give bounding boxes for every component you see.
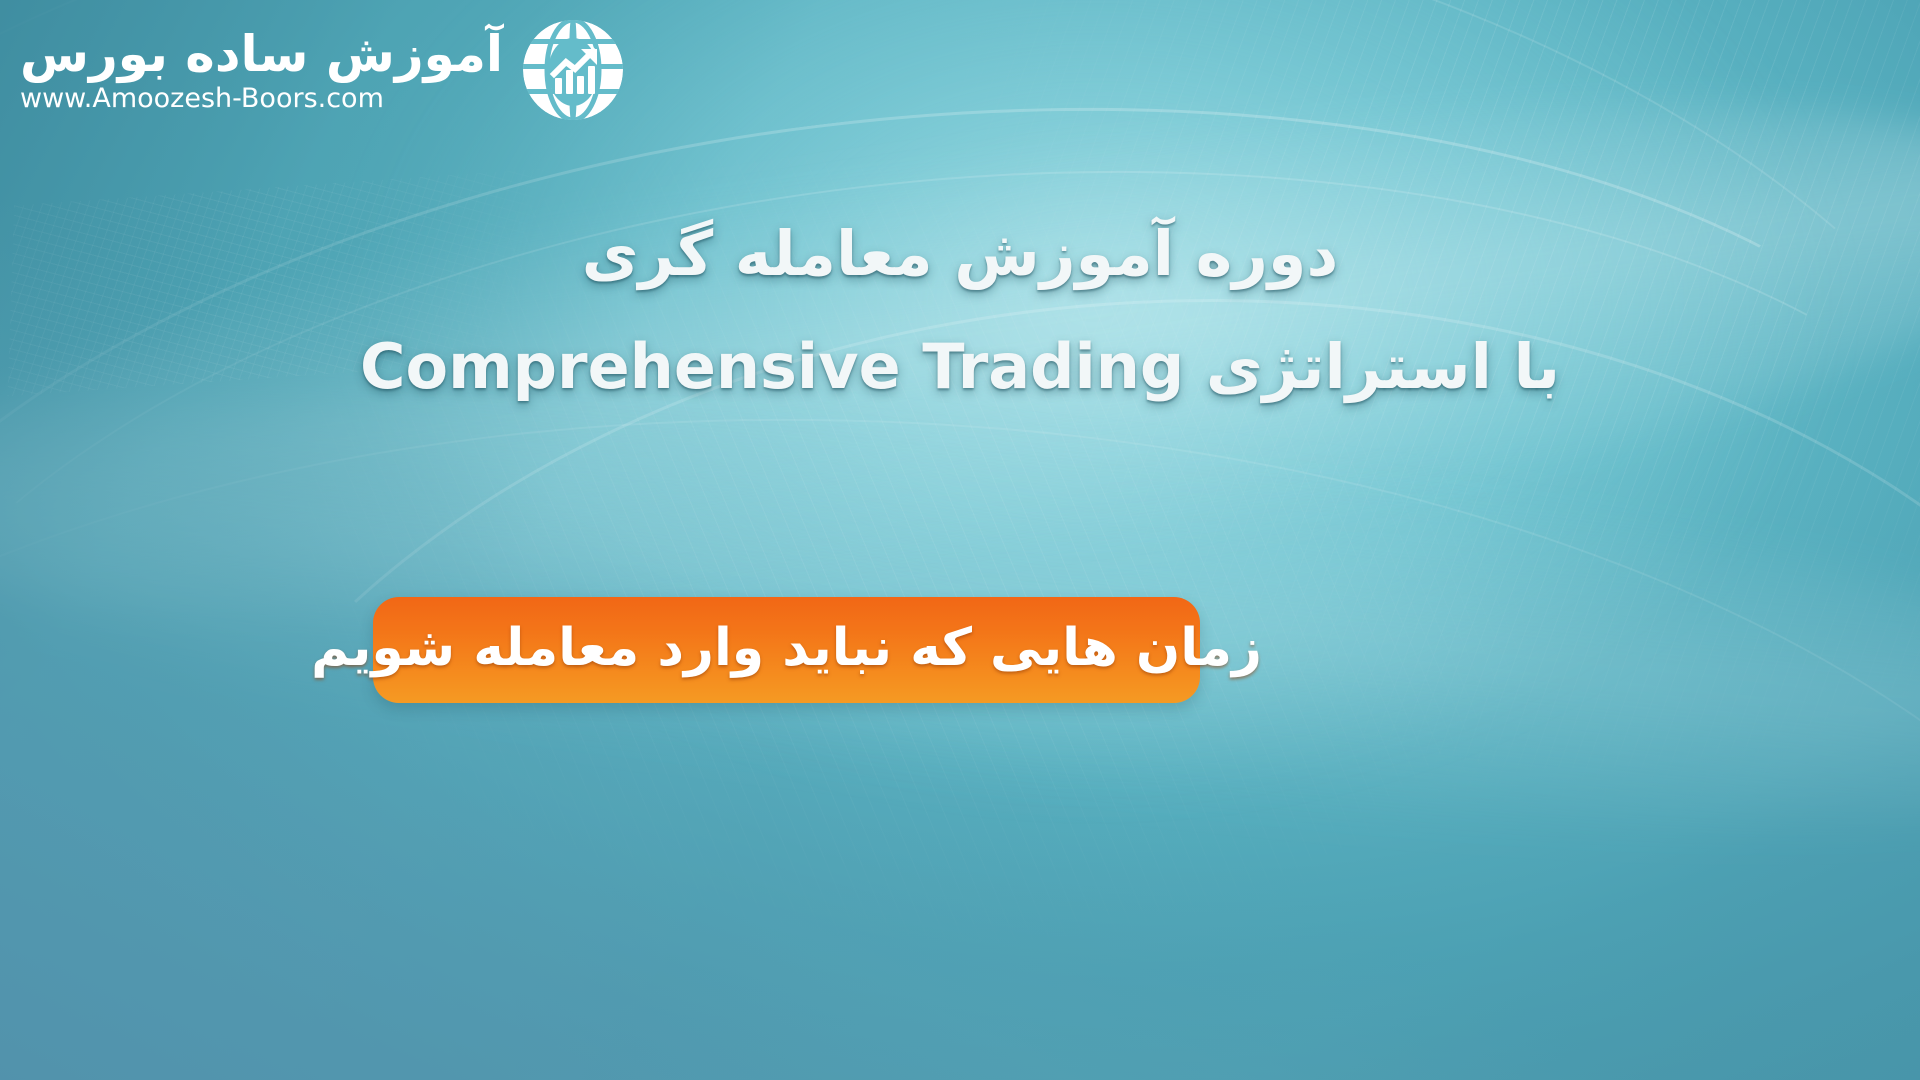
topic-banner-label: زمان هایی که نباید وارد معامله شویم	[311, 618, 1262, 682]
globe-growth-chart-icon	[517, 14, 629, 126]
topic-banner[interactable]: زمان هایی که نباید وارد معامله شویم	[373, 597, 1200, 703]
headline-block: دوره آموزش معامله گری با استراتژی Compre…	[0, 218, 1920, 403]
headline-line-2-en: Comprehensive Trading	[360, 330, 1184, 403]
background-tint-bottom-right	[0, 0, 1920, 1080]
brand-website: www.Amoozesh-Boors.com	[20, 85, 384, 112]
brand-name-fa: آموزش ساده بورس	[20, 29, 503, 79]
headline-line-2: با استراتژی Comprehensive Trading	[0, 331, 1920, 402]
headline-line-2-fa: با استراتژی	[1206, 330, 1560, 403]
promotional-banner-canvas: آموزش ساده بورس www.Amoozesh-Boors.com د…	[0, 0, 1920, 1080]
brand-wordmark: آموزش ساده بورس www.Amoozesh-Boors.com	[20, 29, 503, 112]
brand-logo[interactable]: آموزش ساده بورس www.Amoozesh-Boors.com	[20, 14, 629, 126]
headline-line-1: دوره آموزش معامله گری	[0, 218, 1920, 289]
